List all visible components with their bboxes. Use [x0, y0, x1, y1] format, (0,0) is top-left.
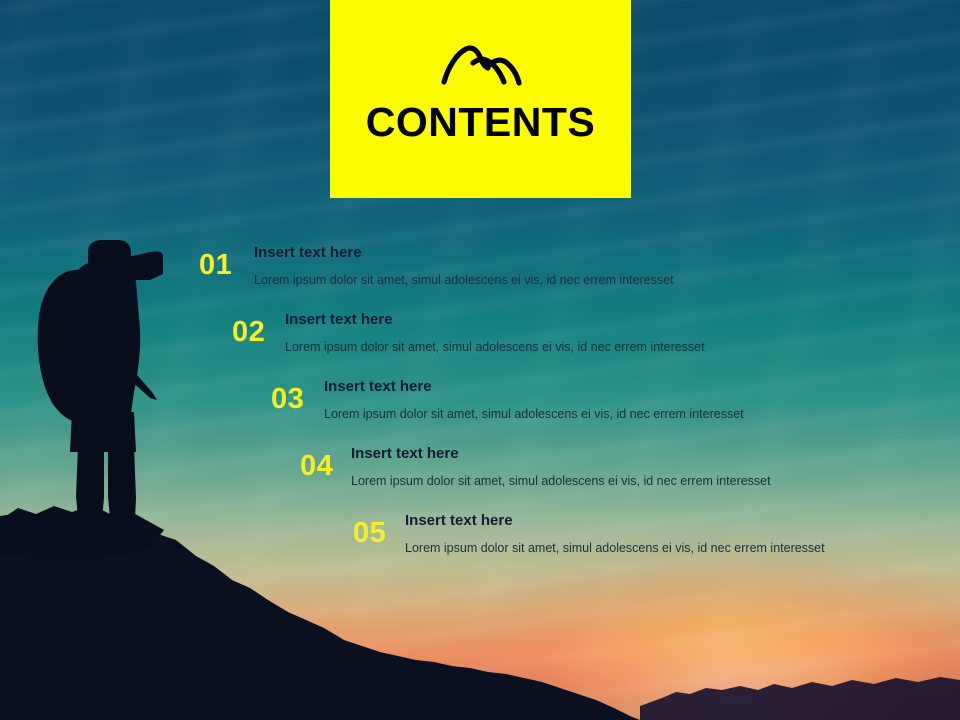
- presentation-slide: CONTENTS 01 Insert text here Lorem ipsum…: [0, 0, 960, 720]
- mountain-peaks-icon: [438, 42, 524, 86]
- list-item[interactable]: 02 Insert text here Lorem ipsum dolor si…: [0, 310, 960, 377]
- list-item-number: 01: [199, 251, 232, 280]
- list-item-number: 02: [232, 318, 265, 347]
- list-item-description: Lorem ipsum dolor sit amet, simul adoles…: [351, 473, 771, 489]
- list-item-description: Lorem ipsum dolor sit amet, simul adoles…: [285, 339, 705, 355]
- list-item-title: Insert text here: [324, 377, 744, 397]
- list-item-title: Insert text here: [351, 444, 771, 464]
- list-item-description: Lorem ipsum dolor sit amet, simul adoles…: [324, 406, 744, 422]
- contents-list: 01 Insert text here Lorem ipsum dolor si…: [0, 243, 960, 578]
- list-item-number: 04: [300, 452, 333, 481]
- page-title: CONTENTS: [366, 102, 596, 143]
- list-item-title: Insert text here: [254, 243, 674, 263]
- list-item-description: Lorem ipsum dolor sit amet, simul adoles…: [254, 272, 674, 288]
- list-item-number: 03: [271, 385, 304, 414]
- list-item-description: Lorem ipsum dolor sit amet, simul adoles…: [405, 540, 825, 556]
- list-item[interactable]: 05 Insert text here Lorem ipsum dolor si…: [0, 511, 960, 578]
- contents-card: CONTENTS: [330, 0, 631, 198]
- list-item-number: 05: [353, 519, 386, 548]
- list-item[interactable]: 01 Insert text here Lorem ipsum dolor si…: [0, 243, 960, 310]
- list-item-title: Insert text here: [405, 511, 825, 531]
- list-item-title: Insert text here: [285, 310, 705, 330]
- list-item[interactable]: 04 Insert text here Lorem ipsum dolor si…: [0, 444, 960, 511]
- list-item[interactable]: 03 Insert text here Lorem ipsum dolor si…: [0, 377, 960, 444]
